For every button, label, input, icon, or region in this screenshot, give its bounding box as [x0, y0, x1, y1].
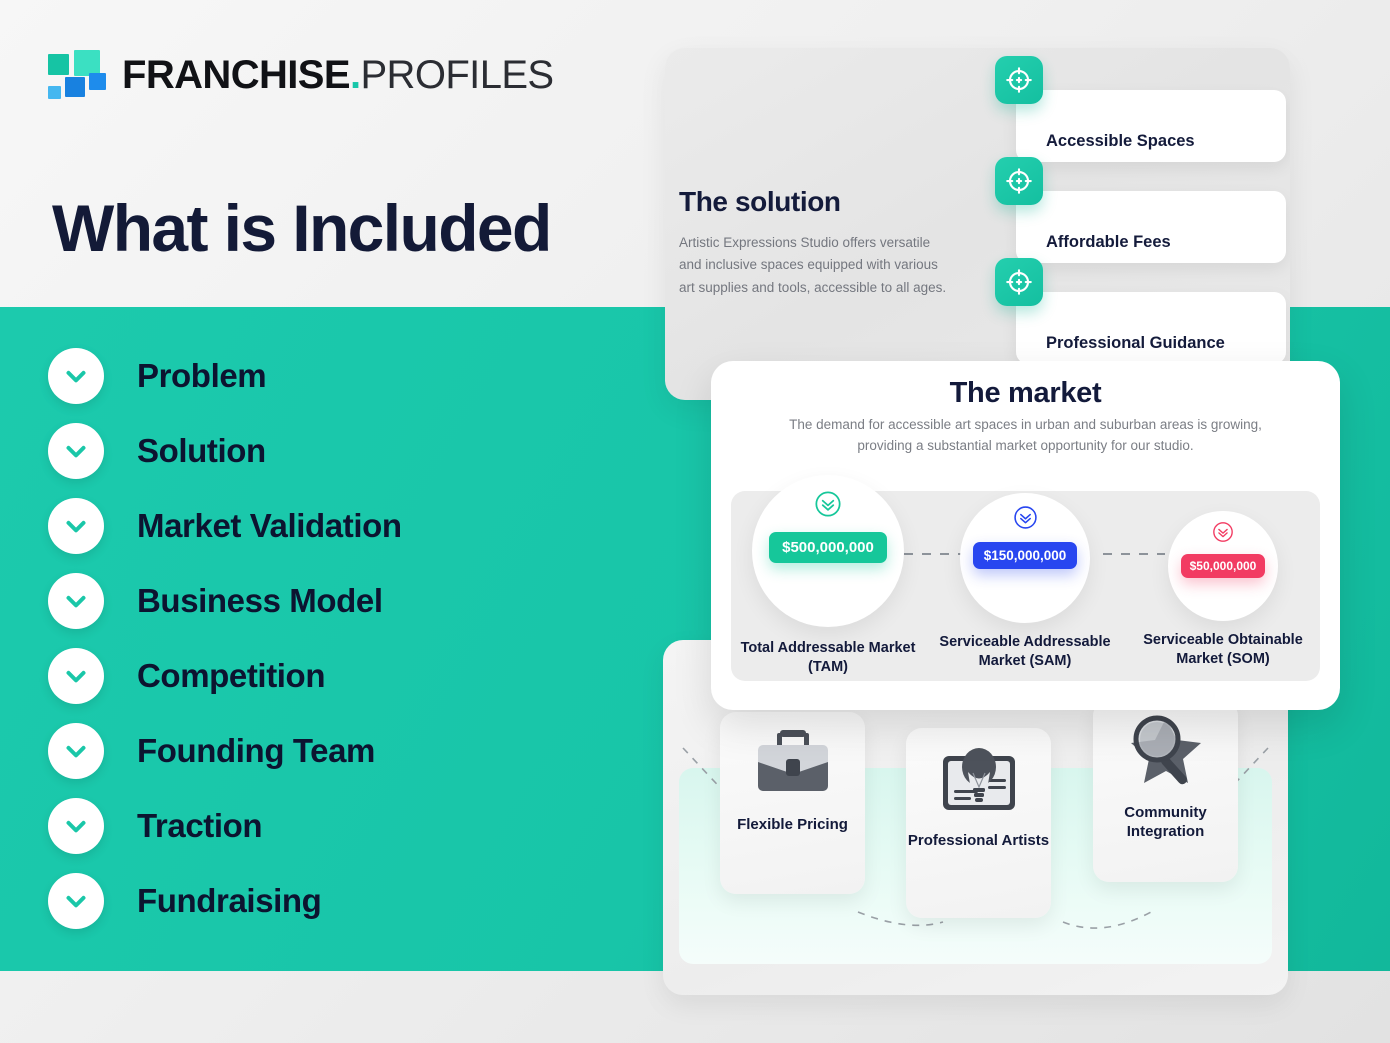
list-item-label: Competition	[137, 657, 325, 695]
market-segment-caption: Serviceable Addressable Market (SAM)	[926, 633, 1124, 670]
solution-feature-card[interactable]: Professional Guidance	[1016, 292, 1286, 364]
chevron-down-icon	[48, 723, 104, 779]
brand-name-light: PROFILES	[360, 53, 553, 97]
list-item[interactable]: Traction	[48, 798, 568, 854]
market-value-badge: $500,000,000	[769, 532, 887, 563]
target-icon	[995, 258, 1043, 306]
solution-description: Artistic Expressions Studio offers versa…	[679, 232, 951, 299]
brand-logo[interactable]: FRANCHISE.PROFILES	[48, 50, 554, 100]
chevron-down-icon	[48, 573, 104, 629]
solution-card: The solution Artistic Expressions Studio…	[665, 48, 1290, 400]
chevron-down-icon	[48, 648, 104, 704]
chevron-down-icon	[48, 498, 104, 554]
chevron-down-icon	[48, 798, 104, 854]
chevron-down-icon	[48, 873, 104, 929]
page-title: What is Included	[52, 190, 551, 266]
list-item[interactable]: Competition	[48, 648, 568, 704]
list-item-label: Traction	[137, 807, 262, 845]
lightbulb-certificate-icon	[932, 728, 1026, 832]
chevron-down-icon	[48, 423, 104, 479]
advantage-tile-label: Community Integration	[1093, 804, 1238, 842]
slide-canvas: FRANCHISE.PROFILES What is Included Prob…	[0, 0, 1390, 1043]
list-item-label: Problem	[137, 357, 266, 395]
advantage-tile[interactable]: Professional Artists	[906, 728, 1051, 918]
market-value-badge: $150,000,000	[973, 542, 1078, 569]
briefcase-icon	[749, 712, 837, 816]
list-item[interactable]: Fundraising	[48, 873, 568, 929]
market-segment[interactable]: $500,000,000 Total Addressable Market (T…	[729, 475, 927, 676]
list-item[interactable]: Market Validation	[48, 498, 568, 554]
brand-name-bold: FRANCHISE	[122, 53, 350, 97]
advantage-tile-label: Flexible Pricing	[737, 816, 848, 835]
market-bubble: $500,000,000	[752, 475, 904, 627]
solution-title: The solution	[679, 186, 841, 218]
logo-squares-icon	[48, 50, 104, 100]
advantage-tile[interactable]: Flexible Pricing	[720, 712, 865, 894]
double-chevron-down-icon	[814, 490, 842, 523]
market-segment-caption: Serviceable Obtainable Market (SOM)	[1124, 631, 1322, 668]
list-item[interactable]: Solution	[48, 423, 568, 479]
list-item-label: Market Validation	[137, 507, 402, 545]
market-description: The demand for accessible art spaces in …	[789, 415, 1262, 457]
list-item-label: Business Model	[137, 582, 383, 620]
solution-feature-row[interactable]: Affordable Fees	[995, 149, 1290, 250]
solution-feature-row[interactable]: Professional Guidance	[995, 250, 1290, 351]
chevron-down-icon	[48, 348, 104, 404]
list-item-label: Founding Team	[137, 732, 375, 770]
market-value-badge: $50,000,000	[1181, 554, 1266, 578]
included-list: Problem Solution Market Validation Busin…	[48, 348, 568, 948]
double-chevron-down-icon	[1013, 505, 1038, 535]
market-segment[interactable]: $50,000,000 Serviceable Obtainable Marke…	[1124, 511, 1322, 668]
advantage-tile[interactable]: Community Integration	[1093, 700, 1238, 882]
advantage-tile-label: Professional Artists	[908, 832, 1049, 851]
award-magnifier-icon	[1119, 700, 1213, 804]
market-segments: $500,000,000 Total Addressable Market (T…	[711, 469, 1340, 699]
market-bubble: $50,000,000	[1168, 511, 1278, 621]
solution-feature-row[interactable]: Accessible Spaces	[995, 48, 1290, 149]
list-item-label: Solution	[137, 432, 266, 470]
list-item-label: Fundraising	[137, 882, 321, 920]
market-title: The market	[711, 377, 1340, 410]
market-bubble: $150,000,000	[960, 493, 1090, 623]
target-icon	[995, 56, 1043, 104]
market-card: The market The demand for accessible art…	[711, 361, 1340, 710]
list-item[interactable]: Founding Team	[48, 723, 568, 779]
target-icon	[995, 157, 1043, 205]
list-item[interactable]: Business Model	[48, 573, 568, 629]
double-chevron-down-icon	[1212, 521, 1234, 548]
solution-feature-list: Accessible Spaces Affordable Fees	[995, 48, 1290, 351]
solution-feature-label: Professional Guidance	[1046, 334, 1225, 353]
brand-dot: .	[350, 53, 361, 97]
market-segment[interactable]: $150,000,000 Serviceable Addressable Mar…	[926, 493, 1124, 670]
brand-wordmark: FRANCHISE.PROFILES	[122, 55, 554, 95]
market-segment-caption: Total Addressable Market (TAM)	[729, 639, 927, 676]
advantage-tiles: Flexible Pricing	[663, 700, 1288, 960]
list-item[interactable]: Problem	[48, 348, 568, 404]
